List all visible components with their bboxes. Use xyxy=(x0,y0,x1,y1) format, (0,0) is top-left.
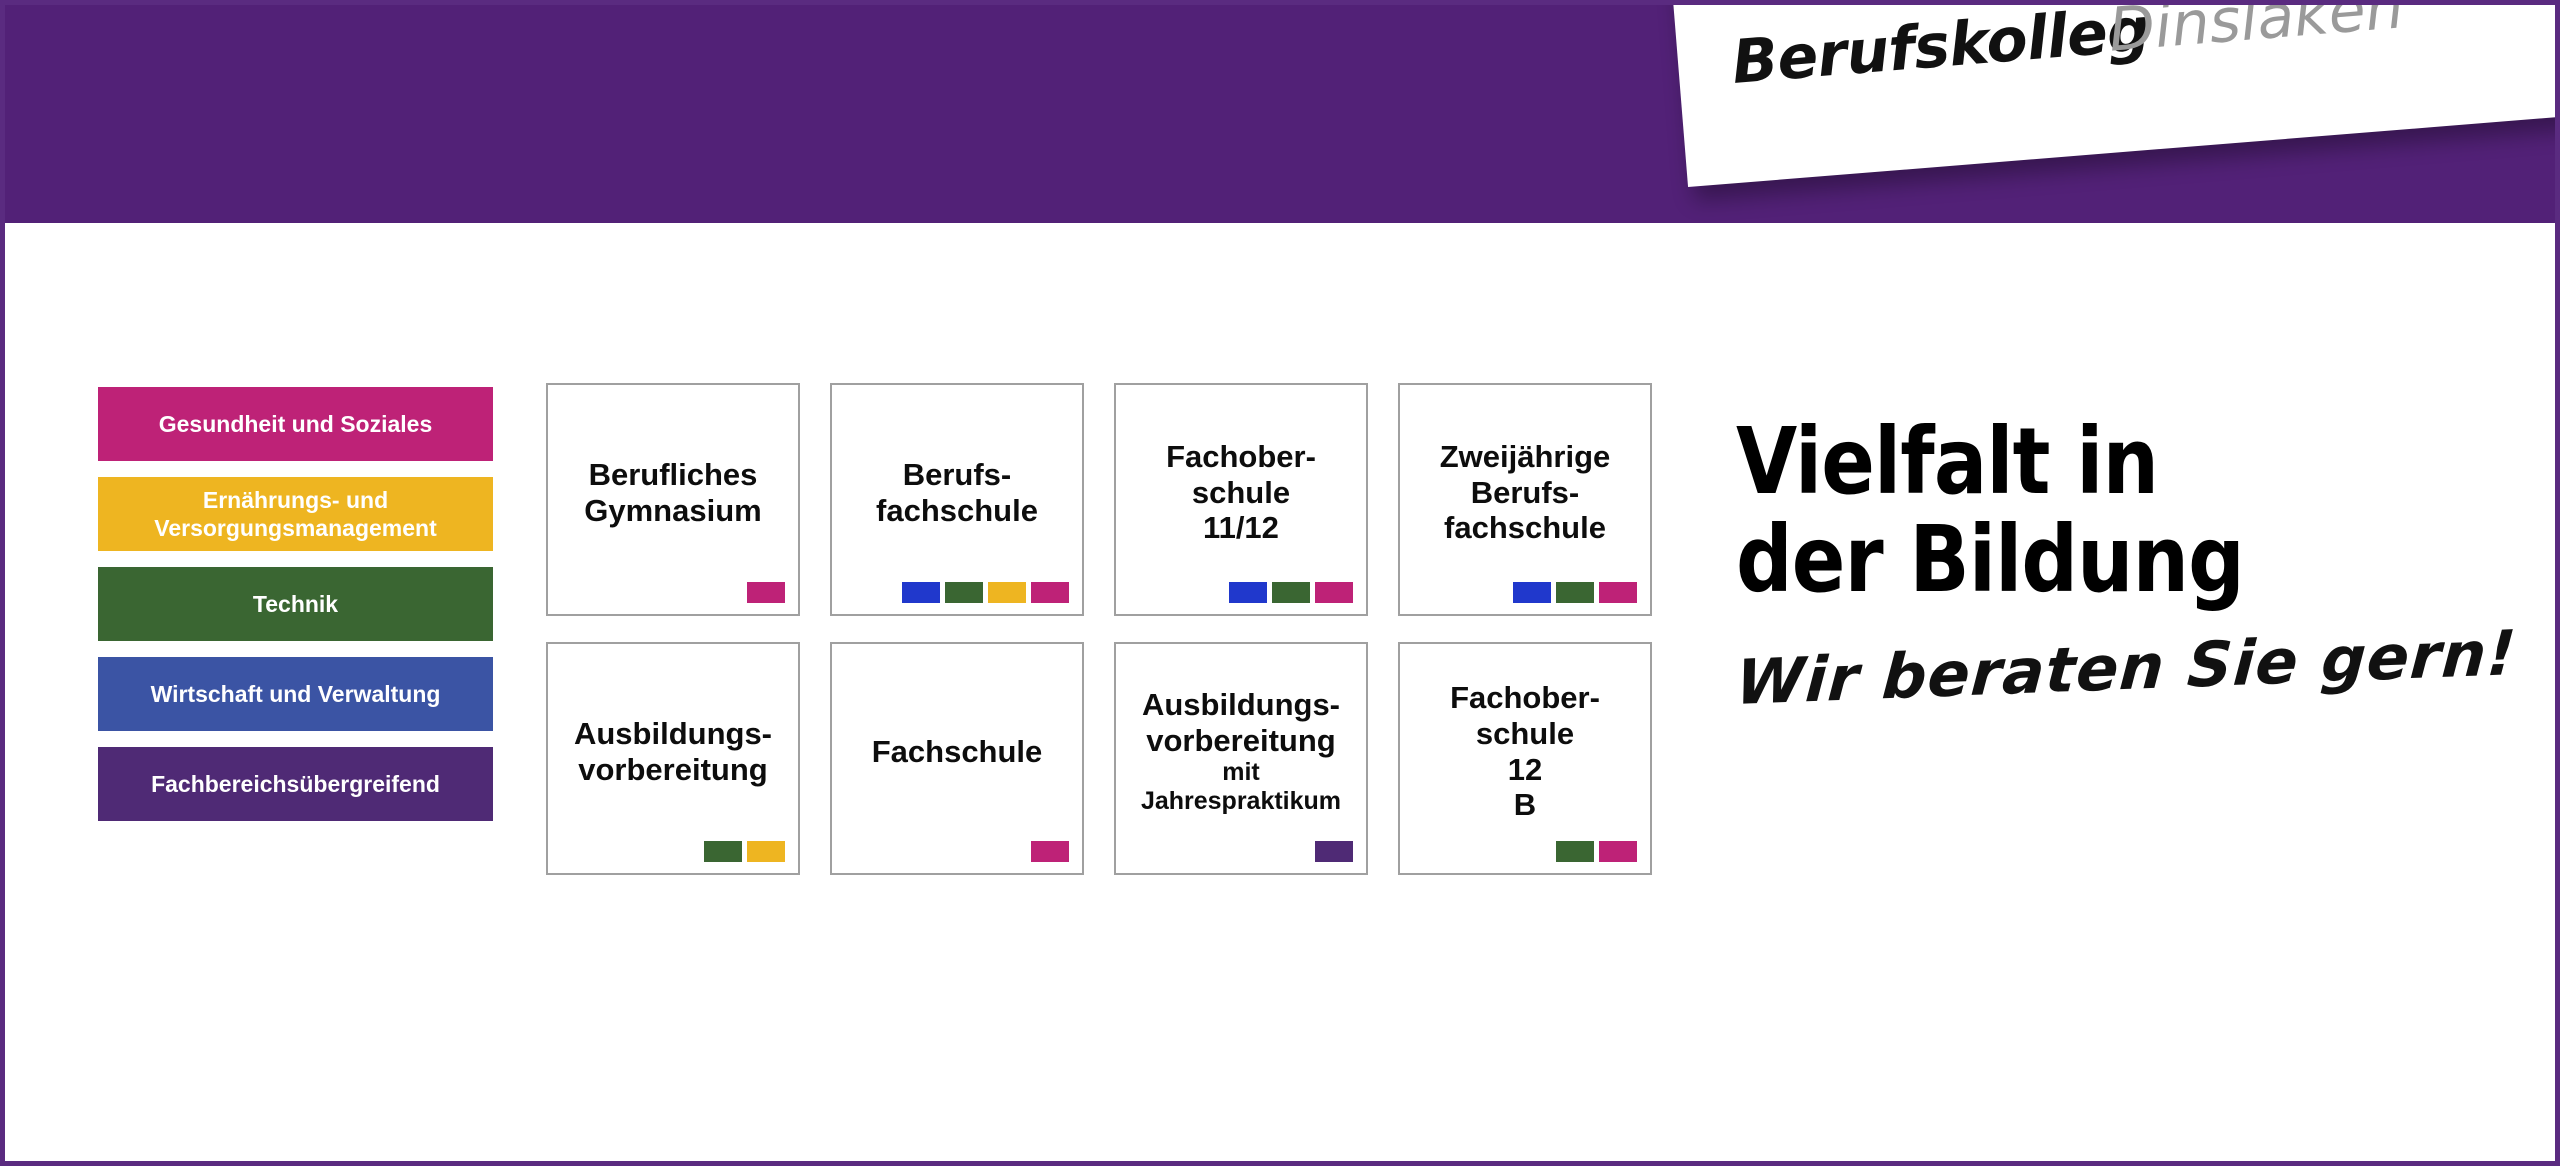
legend-item-label: Fachbereichsübergreifend xyxy=(151,770,440,798)
program-card-chips xyxy=(704,841,785,862)
legend-item-label: Technik xyxy=(253,590,338,618)
program-card-title: Fachober-schule12B xyxy=(1442,680,1608,824)
legend-item-4[interactable]: Fachbereichsübergreifend xyxy=(98,747,493,821)
program-card-title-sub: mitJahrespraktikum xyxy=(1141,758,1341,816)
program-card-0[interactable]: BeruflichesGymnasium xyxy=(546,383,800,616)
fachbereich-chip-2 xyxy=(1599,582,1637,603)
program-card-title: Ausbildungs-vorbereitung xyxy=(566,716,780,788)
fachbereich-chip-0 xyxy=(1513,582,1551,603)
program-card-chips xyxy=(1513,582,1637,603)
program-card-title-main: Fachober-schule12B xyxy=(1450,680,1600,823)
fachbereich-chip-1 xyxy=(747,841,785,862)
program-card-chips xyxy=(1031,841,1069,862)
fachbereich-chip-0 xyxy=(747,582,785,603)
headline-block: Vielfalt in der Bildung Wir beraten Sie … xyxy=(1736,413,2496,714)
program-card-title-main: BeruflichesGymnasium xyxy=(584,457,761,528)
program-card-chips xyxy=(902,582,1069,603)
program-card-title-main: Ausbildungs-vorbereitung xyxy=(1142,687,1340,758)
fachbereich-chip-1 xyxy=(1599,841,1637,862)
program-card-title-main: Fachober-schule11/12 xyxy=(1166,439,1316,546)
program-card-5[interactable]: Fachschule xyxy=(830,642,1084,875)
fachbereich-chip-1 xyxy=(1272,582,1310,603)
program-card-chips xyxy=(1556,841,1637,862)
legend-item-0[interactable]: Gesundheit und Soziales xyxy=(98,387,493,461)
poster-root: Gesundheit und SozialesErnährungs- und V… xyxy=(0,0,2560,1166)
legend-item-label: Gesundheit und Soziales xyxy=(159,410,432,438)
program-card-title-main: ZweijährigeBerufs-fachschule xyxy=(1440,439,1611,546)
program-card-title: Ausbildungs-vorbereitungmitJahrespraktik… xyxy=(1133,687,1349,817)
program-card-title-main: Ausbildungs-vorbereitung xyxy=(574,716,772,787)
fachbereich-chip-0 xyxy=(1315,841,1353,862)
program-card-title-main: Fachschule xyxy=(872,734,1043,769)
logo-text-dinslaken: Dinslaken xyxy=(2106,0,2405,61)
fachbereich-chip-0 xyxy=(704,841,742,862)
program-card-1[interactable]: Berufs-fachschule xyxy=(830,383,1084,616)
program-card-chips xyxy=(1229,582,1353,603)
program-card-title: ZweijährigeBerufs-fachschule xyxy=(1432,439,1619,547)
fachbereich-chip-1 xyxy=(1556,582,1594,603)
program-card-2[interactable]: Fachober-schule11/12 xyxy=(1114,383,1368,616)
legend-item-2[interactable]: Technik xyxy=(98,567,493,641)
headline-line-1: Vielfalt in xyxy=(1736,413,2390,511)
headline-line-2: der Bildung xyxy=(1736,511,2390,609)
program-card-title: Berufs-fachschule xyxy=(868,457,1046,529)
fachbereich-chip-0 xyxy=(1229,582,1267,603)
fachbereich-chip-0 xyxy=(1556,841,1594,862)
legend-item-label: Ernährungs- und Versorgungsmanagement xyxy=(108,486,483,542)
fachbereich-chip-2 xyxy=(988,582,1026,603)
program-card-title: Fachober-schule11/12 xyxy=(1158,439,1324,547)
fachbereich-chip-3 xyxy=(1031,582,1069,603)
program-card-7[interactable]: Fachober-schule12B xyxy=(1398,642,1652,875)
fachbereich-legend: Gesundheit und SozialesErnährungs- und V… xyxy=(98,387,493,837)
program-card-chips xyxy=(1315,841,1353,862)
legend-item-3[interactable]: Wirtschaft und Verwaltung xyxy=(98,657,493,731)
fachbereich-chip-0 xyxy=(1031,841,1069,862)
program-card-4[interactable]: Ausbildungs-vorbereitung xyxy=(546,642,800,875)
fachbereich-chip-0 xyxy=(902,582,940,603)
program-card-6[interactable]: Ausbildungs-vorbereitungmitJahrespraktik… xyxy=(1114,642,1368,875)
legend-item-label: Wirtschaft und Verwaltung xyxy=(151,680,441,708)
program-card-chips xyxy=(747,582,785,603)
logo-text-berufskolleg: Berufskolleg xyxy=(1730,0,2152,93)
program-card-3[interactable]: ZweijährigeBerufs-fachschule xyxy=(1398,383,1652,616)
tagline: Wir beraten Sie gern! xyxy=(1734,623,2501,714)
program-card-title-main: Berufs-fachschule xyxy=(876,457,1038,528)
fachbereich-chip-1 xyxy=(945,582,983,603)
program-card-grid: BeruflichesGymnasiumBerufs-fachschuleFac… xyxy=(546,383,1652,875)
content-area: Gesundheit und SozialesErnährungs- und V… xyxy=(0,223,2560,1166)
program-card-title: BeruflichesGymnasium xyxy=(576,457,769,529)
program-card-title: Fachschule xyxy=(864,734,1051,770)
fachbereich-chip-2 xyxy=(1315,582,1353,603)
legend-item-1[interactable]: Ernährungs- und Versorgungsmanagement xyxy=(98,477,493,551)
